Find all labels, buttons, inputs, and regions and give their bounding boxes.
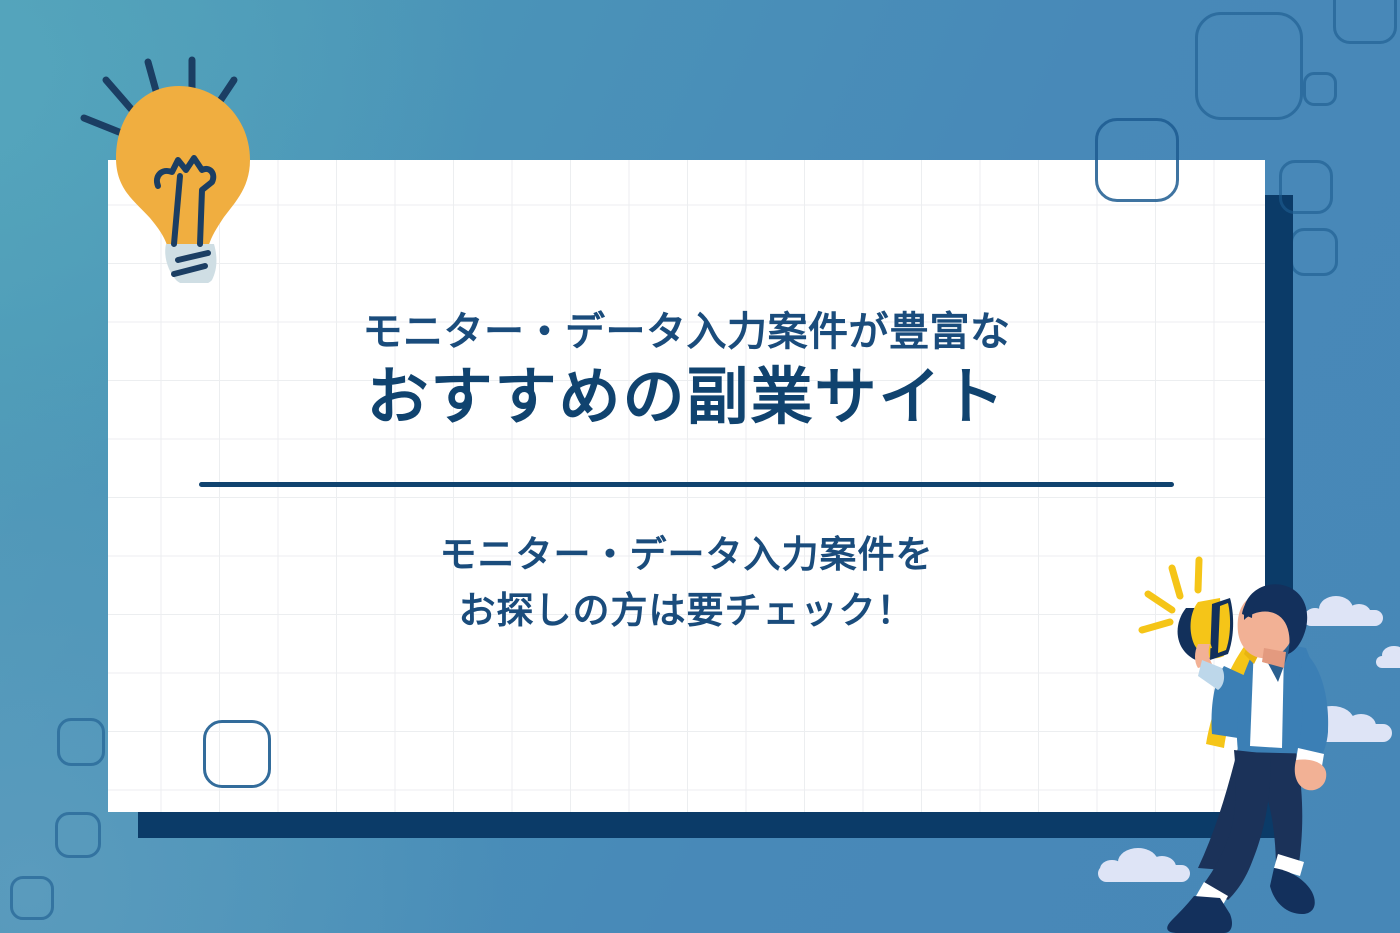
person-with-megaphone-illustration [1128,552,1400,933]
decor-rounded-square [1333,0,1397,44]
megaphone-icon [1178,598,1234,668]
subtitle-line-2: お探しの方は要チェック！ [440,583,934,639]
decor-rounded-square [55,812,101,858]
divider [199,482,1174,487]
decor-rounded-square [1195,12,1303,120]
decor-rounded-square [57,718,105,766]
headline-top: モニター・データ入力案件が豊富な [363,308,1011,356]
subtitle-group: モニター・データ入力案件を お探しの方は要チェック！ [440,527,934,639]
lightbulb-icon [62,48,292,283]
subtitle-line-1: モニター・データ入力案件を [440,527,934,583]
decor-rounded-square [1279,160,1333,214]
headline-main: おすすめの副業サイト [366,360,1006,436]
decor-rounded-square [1303,72,1337,106]
decor-rounded-square [1290,228,1338,276]
decor-rounded-square [10,876,54,920]
banner-canvas: モニター・データ入力案件が豊富な おすすめの副業サイト モニター・データ入力案件… [0,0,1400,933]
